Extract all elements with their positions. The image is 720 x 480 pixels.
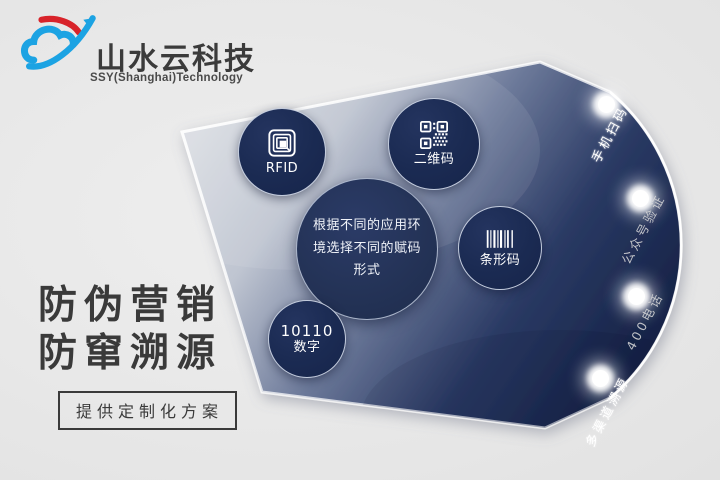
- rfid-icon: [267, 128, 297, 158]
- headline-line-2: 防窜溯源: [38, 330, 237, 378]
- headline-line-1: 防伪营销: [38, 282, 237, 330]
- node-barcode[interactable]: 条形码: [458, 206, 542, 290]
- node-qrcode[interactable]: 二维码: [388, 98, 480, 190]
- poster-canvas: 山水云科技 SSY(Shanghai)Technology 防伪营销 防窜溯源 …: [0, 0, 720, 480]
- node-digit[interactable]: 10110 数字: [268, 300, 346, 378]
- node-qrcode-label: 二维码: [414, 153, 455, 167]
- cloud-swoosh-logo-icon: [18, 12, 96, 74]
- node-barcode-label: 条形码: [480, 254, 521, 268]
- node-rfid[interactable]: RFID: [238, 108, 326, 196]
- node-rfid-label: RFID: [266, 162, 298, 176]
- center-text: 根据不同的应用环境选择不同的赋码形式: [313, 215, 421, 283]
- node-digit-value: 10110: [281, 322, 334, 341]
- brand-name-en: SSY(Shanghai)Technology: [90, 72, 243, 84]
- arc-dot-4[interactable]: [592, 370, 609, 387]
- barcode-icon: [485, 228, 515, 250]
- subtitle-box: 提供定制化方案: [58, 391, 237, 430]
- node-digit-label: 数字: [293, 341, 320, 355]
- center-circle: 根据不同的应用环境选择不同的赋码形式: [296, 178, 438, 320]
- subtitle-text: 提供定制化方案: [76, 402, 223, 421]
- headline-block: 防伪营销 防窜溯源 提供定制化方案: [38, 282, 237, 430]
- brand-logo: 山水云科技 SSY(Shanghai)Technology: [18, 12, 233, 87]
- qrcode-icon: [420, 121, 448, 149]
